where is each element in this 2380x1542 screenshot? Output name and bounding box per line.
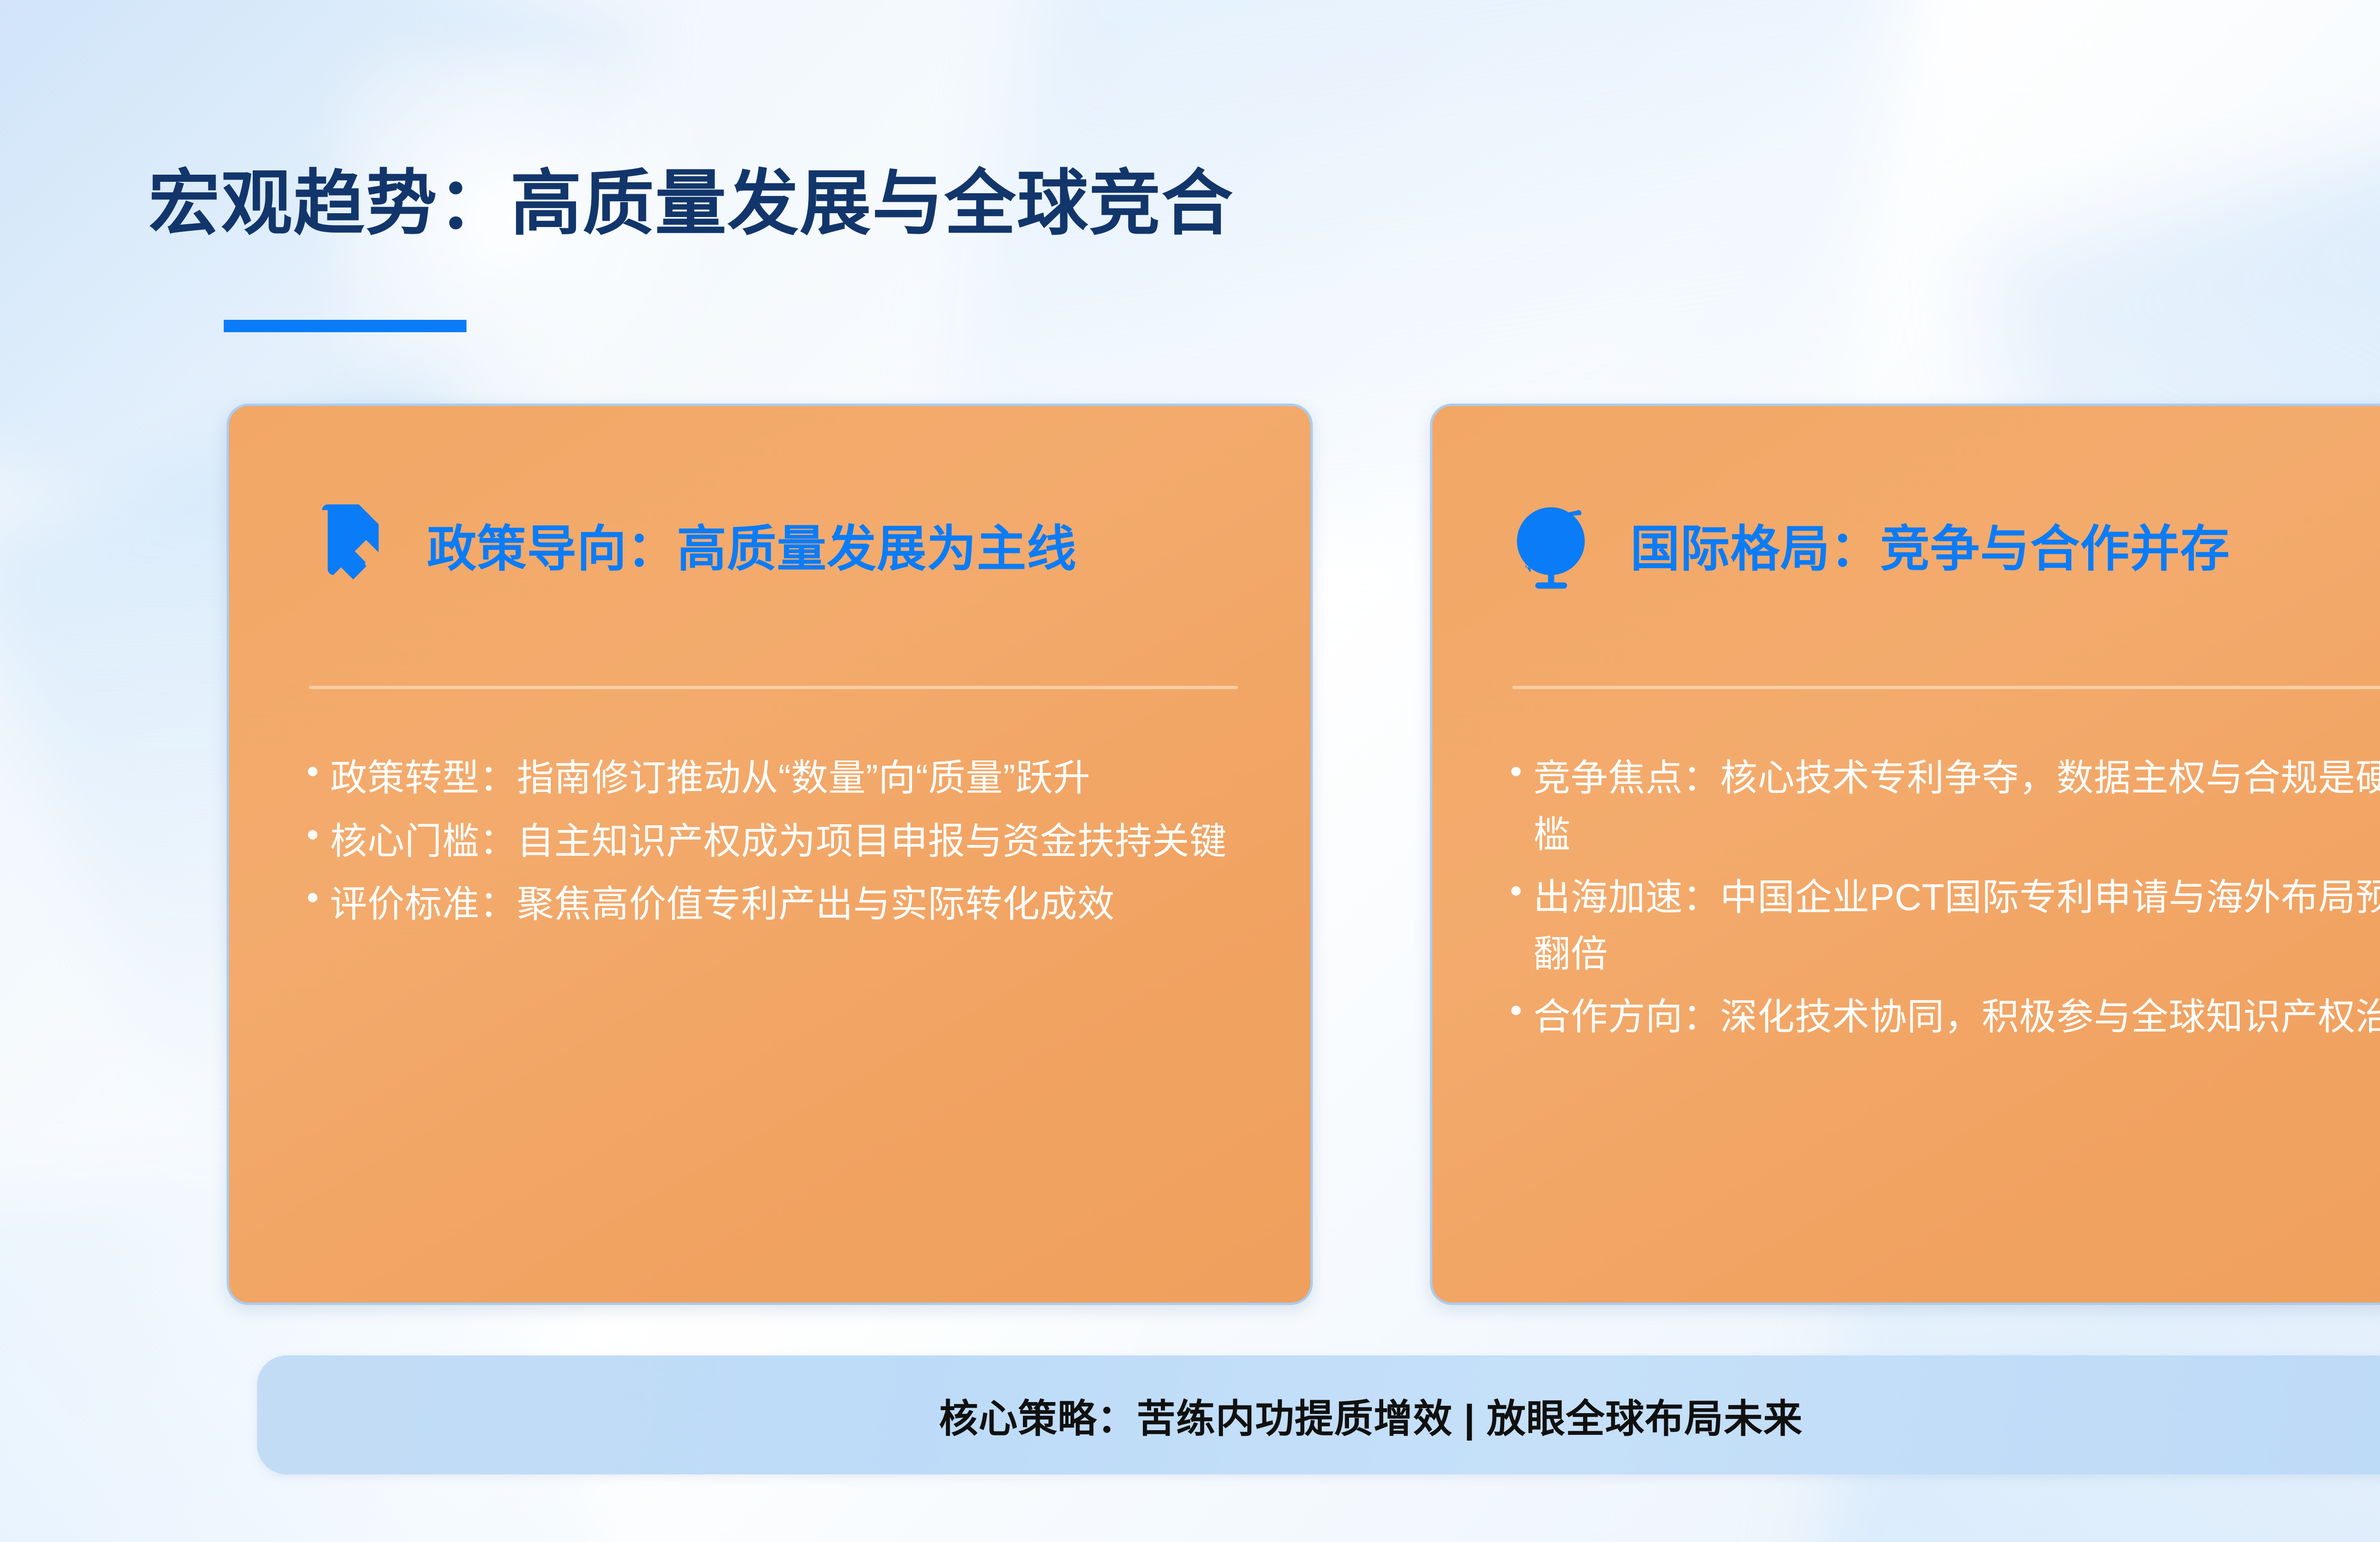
bullet-dot-icon: ●	[306, 876, 319, 917]
bullet-dot-icon: ●	[306, 813, 319, 854]
footer-text: 核心策略：苦练内功提质增效 | 放眼全球布局未来	[939, 1387, 1803, 1443]
globe-icon	[1508, 499, 1599, 589]
card-title: 政策导向：高质量发展为主线	[427, 508, 1077, 580]
cards-container: 政策导向：高质量发展为主线 ● 政策转型：指南修订推动从“数量”向“质量”跃升 …	[227, 404, 2380, 1305]
list-item: ● 政策转型：指南修订推动从“数量”向“质量”跃升	[306, 750, 1258, 806]
list-item-text: 合作方向：深化技术协同，积极参与全球知识产权治理	[1533, 988, 2380, 1045]
page-title: 宏观趋势：高质量发展与全球竞合	[149, 162, 1234, 245]
footer-banner: 核心策略：苦练内功提质增效 | 放眼全球布局未来	[257, 1355, 2380, 1474]
list-item: ● 竞争焦点：核心技术专利争夺，数据主权与合规是硬门槛	[1509, 750, 2380, 862]
title-accent-bar	[224, 320, 466, 332]
list-item-text: 竞争焦点：核心技术专利争夺，数据主权与合规是硬门槛	[1533, 750, 2380, 862]
card-title: 国际格局：竞争与合作并存	[1630, 508, 2230, 580]
document-policy-icon	[305, 499, 396, 589]
card-global[interactable]: 国际格局：竞争与合作并存 ● 竞争焦点：核心技术专利争夺，数据主权与合规是硬门槛…	[1430, 404, 2380, 1305]
list-item-text: 出海加速：中国企业PCT国际专利申请与海外布局预计翻倍	[1533, 869, 2380, 982]
bullet-dot-icon: ●	[1509, 869, 1523, 910]
list-item: ● 评价标准：聚焦高价值专利产出与实际转化成效	[306, 876, 1258, 932]
bullet-dot-icon: ●	[1509, 988, 1523, 1030]
bullet-dot-icon: ●	[306, 750, 319, 791]
bullet-dot-icon: ●	[1509, 750, 1523, 791]
card-divider	[1512, 686, 2380, 689]
card-header: 政策导向：高质量发展为主线	[305, 473, 1268, 615]
card-policy[interactable]: 政策导向：高质量发展为主线 ● 政策转型：指南修订推动从“数量”向“质量”跃升 …	[227, 404, 1313, 1305]
list-item-text: 核心门槛：自主知识产权成为项目申报与资金扶持关键	[330, 813, 1258, 870]
list-item-text: 政策转型：指南修订推动从“数量”向“质量”跃升	[330, 750, 1258, 806]
slide-canvas: 宏观趋势：高质量发展与全球竞合 政策导向：高质量发展为主线	[0, 0, 2380, 1542]
bullet-list: ● 竞争焦点：核心技术专利争夺，数据主权与合规是硬门槛 ● 出海加速：中国企业P…	[1509, 750, 2380, 1052]
list-item: ● 核心门槛：自主知识产权成为项目申报与资金扶持关键	[306, 813, 1258, 870]
list-item-text: 评价标准：聚焦高价值专利产出与实际转化成效	[330, 876, 1258, 932]
bullet-list: ● 政策转型：指南修订推动从“数量”向“质量”跃升 ● 核心门槛：自主知识产权成…	[306, 750, 1258, 939]
card-header: 国际格局：竞争与合作并存	[1508, 473, 2380, 615]
list-item: ● 出海加速：中国企业PCT国际专利申请与海外布局预计翻倍	[1509, 869, 2380, 982]
list-item: ● 合作方向：深化技术协同，积极参与全球知识产权治理	[1509, 988, 2380, 1045]
card-divider	[309, 686, 1238, 689]
